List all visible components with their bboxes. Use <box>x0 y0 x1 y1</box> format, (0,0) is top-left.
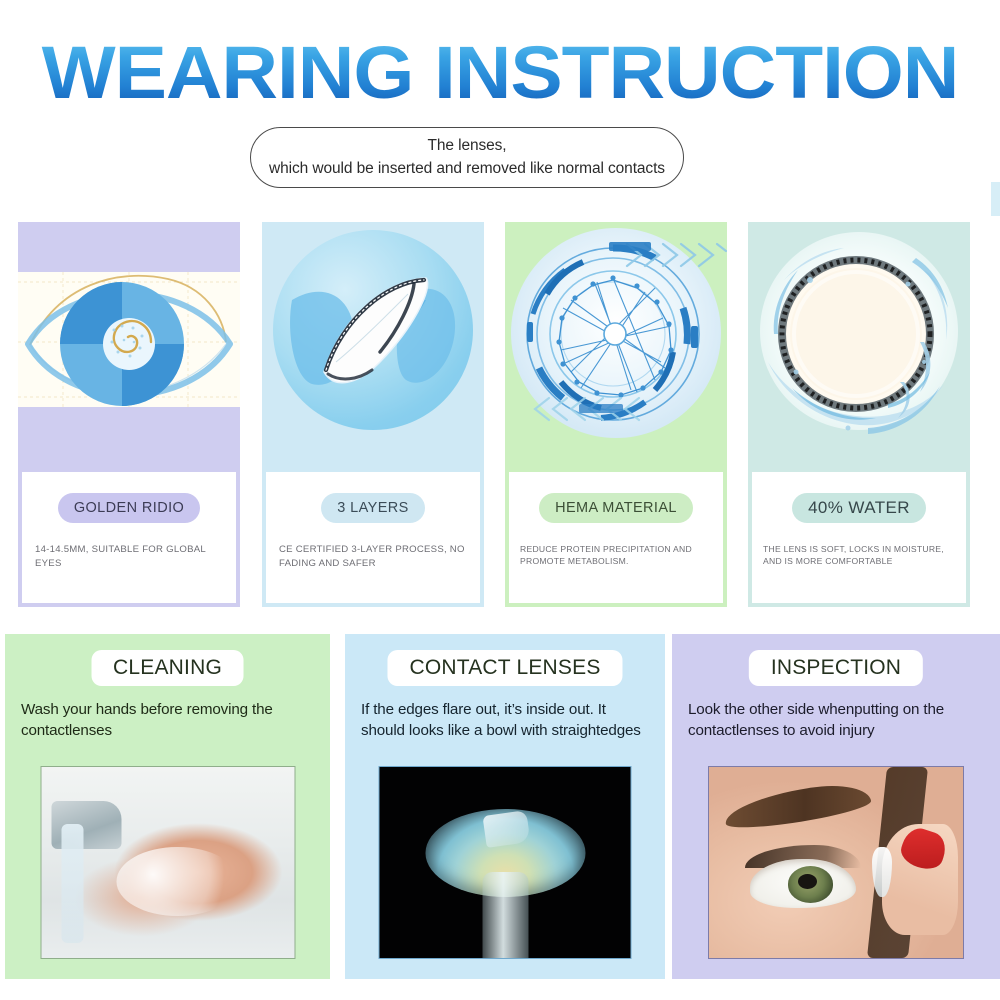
eyebrow <box>723 779 874 834</box>
step-panel-cleaning: CLEANING Wash your hands before removing… <box>5 634 330 979</box>
feature-card-1-footer: GOLDEN RIDIO 14-14.5MM, SUITABLE FOR GLO… <box>22 472 236 603</box>
step-panel-contact-lenses: CONTACT LENSES If the edges flare out, i… <box>345 634 665 979</box>
tech-circle-svg <box>505 222 727 472</box>
feature-badge-hema-material: HEMA MATERIAL <box>539 493 693 523</box>
feature-card-3-footer: HEMA MATERIAL REDUCE PROTEIN PRECIPITATI… <box>509 472 723 603</box>
step-text-cleaning: Wash your hands before removing the cont… <box>5 700 330 741</box>
feature-caption-hema-material: REDUCE PROTEIN PRECIPITATION AND PROMOTE… <box>509 543 723 568</box>
step-photo-inspection <box>708 766 964 959</box>
subtitle-callout: The lenses, which would be inserted and … <box>250 127 684 188</box>
step-title-badge-cleaning: CLEANING <box>91 650 244 686</box>
step-title-badge-inspection: INSPECTION <box>749 650 923 686</box>
feature-caption-golden-ratio: 14-14.5MM, SUITABLE FOR GLOBAL EYES <box>22 543 236 571</box>
step-title-inspection: INSPECTION <box>771 656 901 680</box>
feature-badge-3-layers: 3 LAYERS <box>321 493 424 523</box>
step-title-cleaning: CLEANING <box>113 656 222 680</box>
feature-card-row: GOLDEN RIDIO 14-14.5MM, SUITABLE FOR GLO… <box>0 222 1000 607</box>
subtitle-line-2: which would be inserted and removed like… <box>269 158 665 180</box>
applicator-stem <box>482 872 528 958</box>
feature-card-3-layers: 3 LAYERS CE CERTIFIED 3-LAYER PROCESS, N… <box>262 222 484 607</box>
feature-card-golden-ratio: GOLDEN RIDIO 14-14.5MM, SUITABLE FOR GLO… <box>18 222 240 607</box>
subtitle-line-1: The lenses, <box>427 135 506 157</box>
feature-card-40-water: 40% WATER THE LENS IS SOFT, LOCKS IN MOI… <box>748 222 970 607</box>
wearing-instruction-page: WEARING INSTRUCTION The lenses, which wo… <box>0 0 1000 1000</box>
feature-card-2-footer: 3 LAYERS CE CERTIFIED 3-LAYER PROCESS, N… <box>266 472 480 603</box>
step-text-contact-lenses: If the edges flare out, it’s inside out.… <box>345 700 665 741</box>
water-splash-lens-svg <box>748 222 970 472</box>
soap-foam <box>117 847 238 916</box>
edge-artifact <box>991 182 1000 216</box>
tech-circle-icon <box>505 222 727 472</box>
lens-on-applicator-photo <box>380 767 631 958</box>
lens-cross-section-svg <box>262 222 484 472</box>
feature-caption-40-water: THE LENS IS SOFT, LOCKS IN MOISTURE, AND… <box>752 543 966 568</box>
hands-washing-photo <box>41 767 294 958</box>
page-title: WEARING INSTRUCTION <box>0 36 1000 110</box>
step-title-badge-contact-lenses: CONTACT LENSES <box>387 650 622 686</box>
golden-ratio-eye-svg <box>18 222 240 472</box>
step-title-contact-lenses: CONTACT LENSES <box>409 656 600 680</box>
instruction-step-row: CLEANING Wash your hands before removing… <box>0 634 1000 1000</box>
feature-card-4-footer: 40% WATER THE LENS IS SOFT, LOCKS IN MOI… <box>752 472 966 603</box>
feature-card-hema-material: HEMA MATERIAL REDUCE PROTEIN PRECIPITATI… <box>505 222 727 607</box>
feature-badge-40-water: 40% WATER <box>792 493 926 523</box>
pupil <box>798 874 817 889</box>
feature-badge-golden-ratio: GOLDEN RIDIO <box>58 493 200 523</box>
water-splash-lens-icon <box>748 222 970 472</box>
golden-ratio-eye-icon <box>18 222 240 472</box>
lens-cross-section-icon <box>262 222 484 472</box>
step-photo-contact-lenses <box>379 766 632 959</box>
feature-caption-3-layers: CE CERTIFIED 3-LAYER PROCESS, NO FADING … <box>266 543 480 571</box>
step-photo-cleaning <box>40 766 295 959</box>
step-panel-inspection: INSPECTION Look the other side whenputti… <box>672 634 1000 979</box>
step-text-inspection: Look the other side whenputting on the c… <box>672 700 1000 741</box>
eye-closeup-photo <box>709 767 963 958</box>
